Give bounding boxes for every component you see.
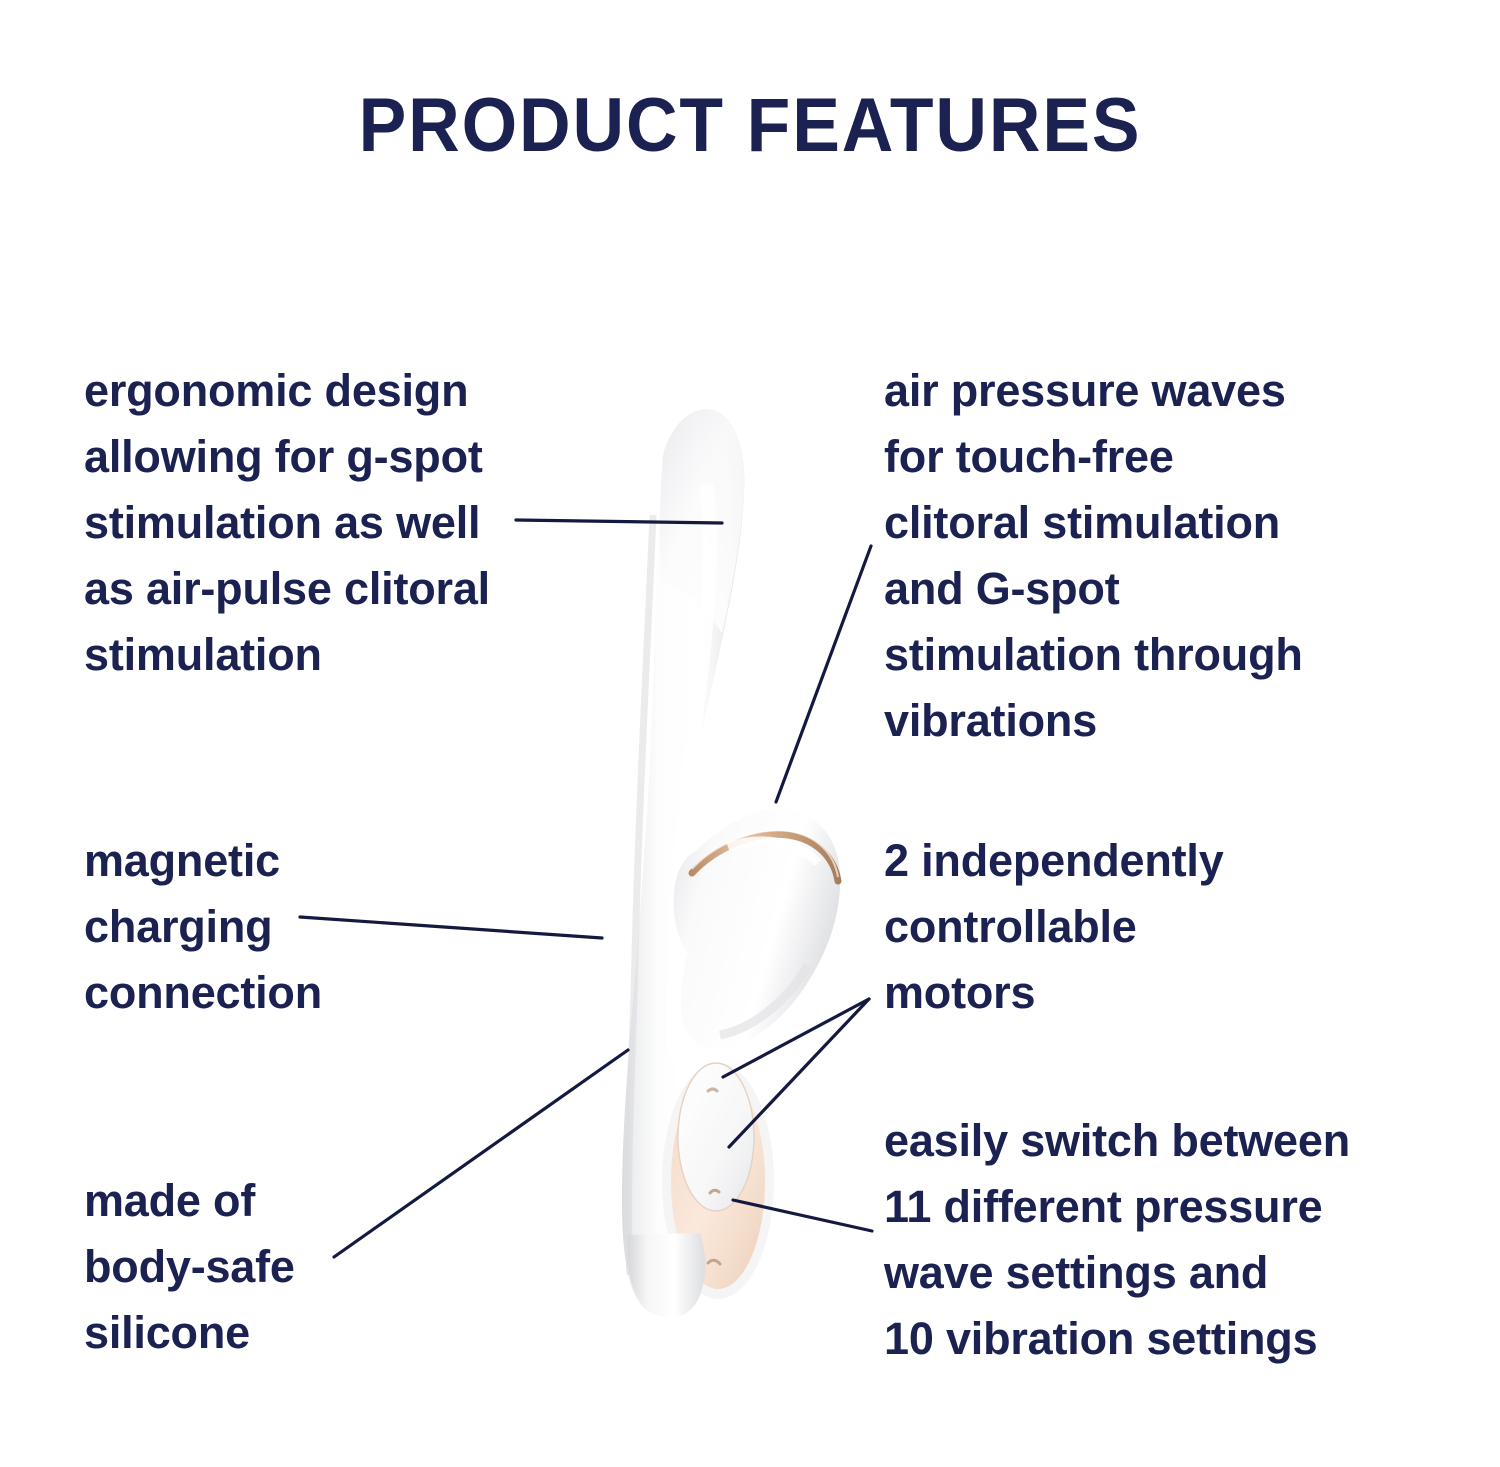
feature-label-ergonomic-design: ergonomic design allowing for g-spot sti… — [84, 358, 554, 688]
clitoral-stimulator-arm — [674, 809, 841, 1049]
feature-label-air-pressure-waves: air pressure waves for touch-free clitor… — [884, 358, 1384, 754]
page-title: PRODUCT FEATURES — [45, 88, 1455, 164]
feature-label-body-safe-silicone: made of body-safe silicone — [84, 1168, 414, 1366]
feature-label-settings: easily switch between 11 different press… — [884, 1108, 1404, 1372]
infographic-canvas: PRODUCT FEATURES — [0, 0, 1500, 1467]
feature-label-independent-motors: 2 independently controllable motors — [884, 828, 1314, 1026]
product-illustration — [520, 395, 940, 1325]
feature-label-magnetic-charging: magnetic charging connection — [84, 828, 414, 1026]
product-base — [628, 1233, 706, 1318]
power-button — [678, 1063, 754, 1211]
